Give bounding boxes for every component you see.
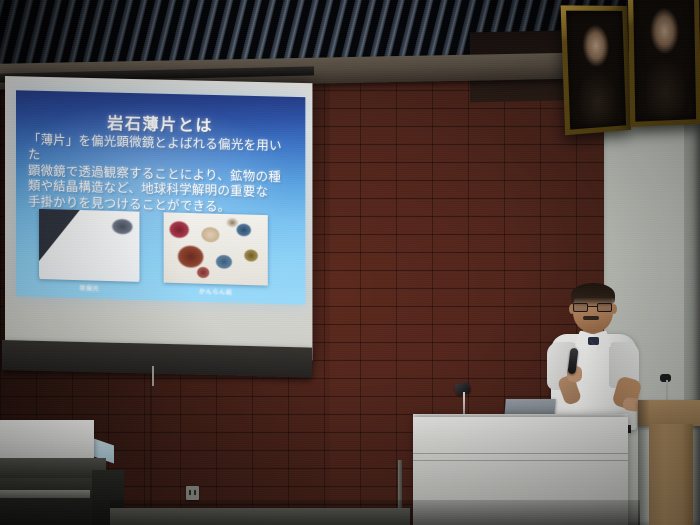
photo-vignette — [0, 0, 700, 525]
lecture-hall-photo: 岩石薄片とは 「薄片」を偏光顕微鏡とよばれる偏光を用いた 顕微鏡で透過観察するこ… — [0, 0, 700, 525]
